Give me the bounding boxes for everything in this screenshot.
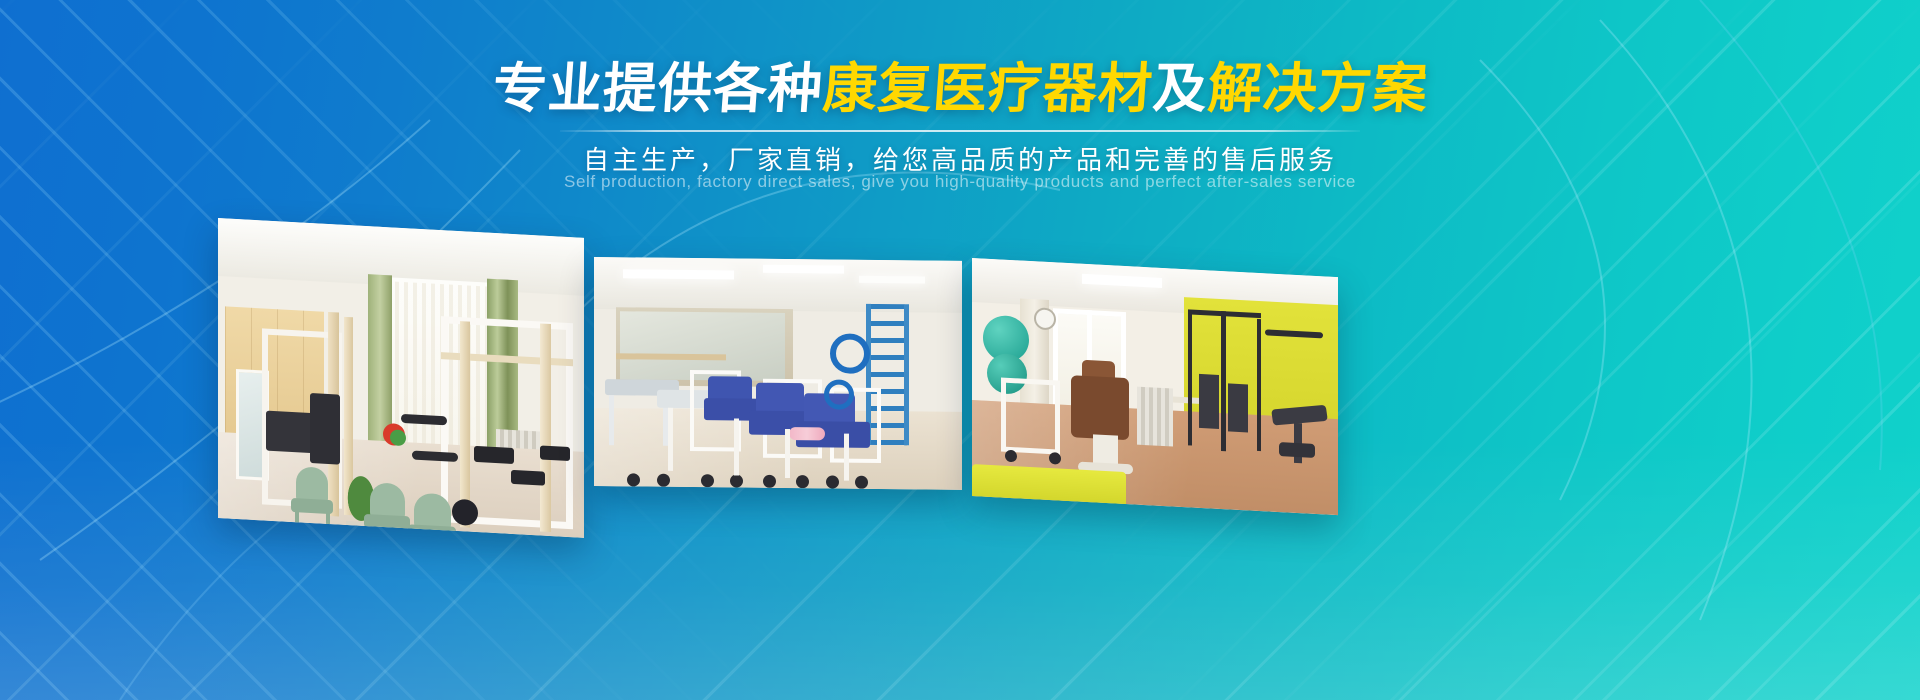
scene-rehab-training-room (218, 218, 584, 538)
photo-therapy-hall (594, 257, 962, 490)
promo-banner: 专业提供各种康复医疗器材及解决方案 自主生产，厂家直销，给您高品质的产品和完善的… (0, 0, 1920, 700)
photo-equipment-room (972, 258, 1338, 515)
photo-rehab-training-room (218, 218, 584, 538)
scene-therapy-hall (594, 257, 962, 490)
scene-equipment-room (972, 258, 1338, 515)
photo-strip (0, 0, 1920, 700)
